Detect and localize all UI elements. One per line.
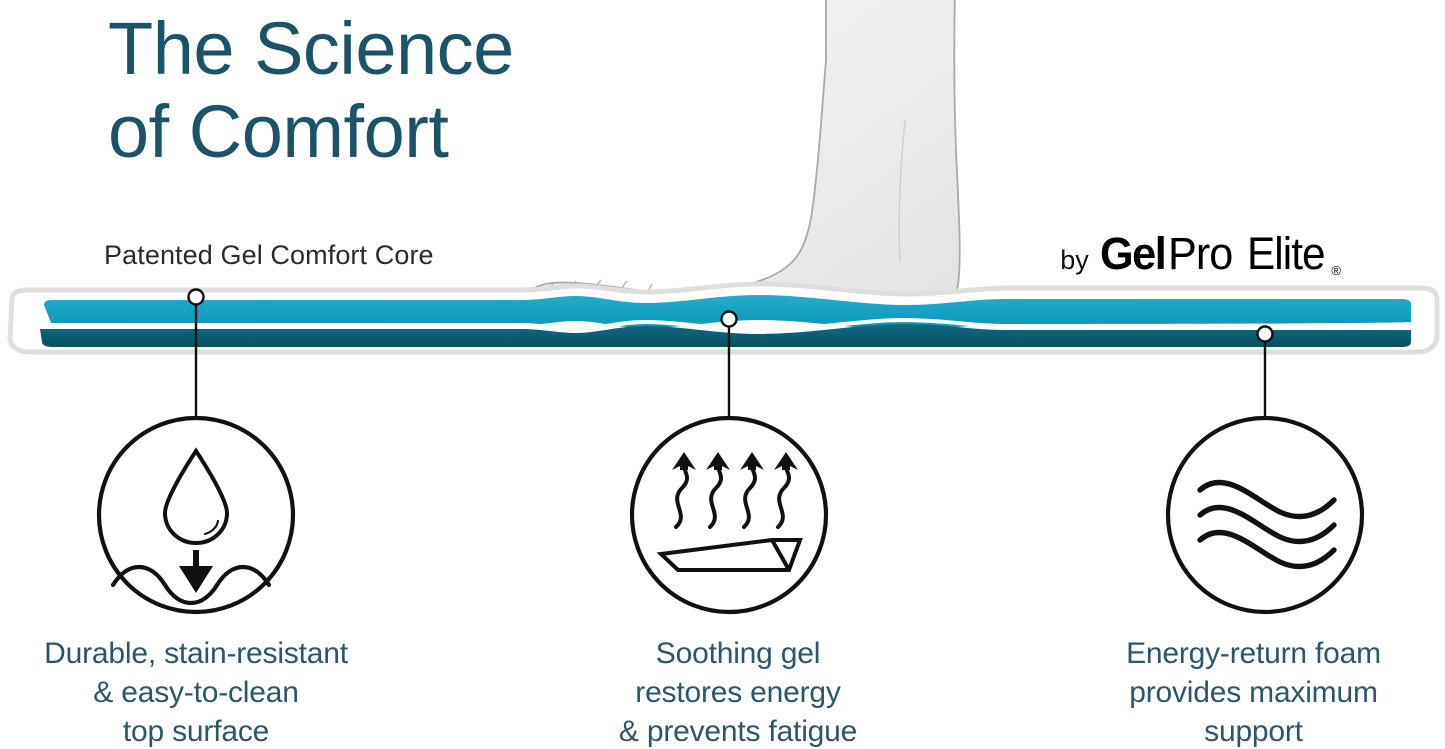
layer-separator	[44, 320, 1411, 330]
energy-return-foam-layer	[40, 324, 1411, 347]
registered-trademark-symbol: ®	[1331, 263, 1341, 280]
rising-energy-waves-icon	[632, 418, 826, 612]
callout-dot-2	[722, 312, 737, 327]
brand-by-text: by	[1060, 245, 1089, 276]
page-title: The Science of Comfort	[108, 8, 728, 174]
water-drop-absorb-icon	[99, 418, 293, 612]
foam-waves-icon	[1168, 418, 1362, 612]
science-of-comfort-infographic: The Science of Comfort Patented Gel Comf…	[0, 0, 1445, 749]
brand-pro-text: Pro	[1168, 228, 1232, 280]
brand-elite-text: Elite	[1247, 228, 1325, 280]
callout-dot-1	[189, 290, 204, 305]
feature-caption-soothing-gel: Soothing gel restores energy & prevents …	[548, 634, 928, 749]
callout-dot-3	[1258, 327, 1273, 342]
brand-lockup: by Gel Pro Elite ®	[1060, 228, 1341, 280]
gel-comfort-core-layer	[44, 295, 1411, 330]
feature-caption-energy-return-foam: Energy-return foam provides maximum supp…	[1062, 634, 1445, 749]
brand-gel-text: Gel	[1100, 228, 1165, 280]
callout-leader-lines	[189, 290, 1273, 426]
mat-outer-casing	[10, 284, 1437, 352]
patented-gel-comfort-core-label: Patented Gel Comfort Core	[104, 240, 434, 271]
feature-caption-durable-surface: Durable, stain-resistant & easy-to-clean…	[0, 634, 392, 749]
